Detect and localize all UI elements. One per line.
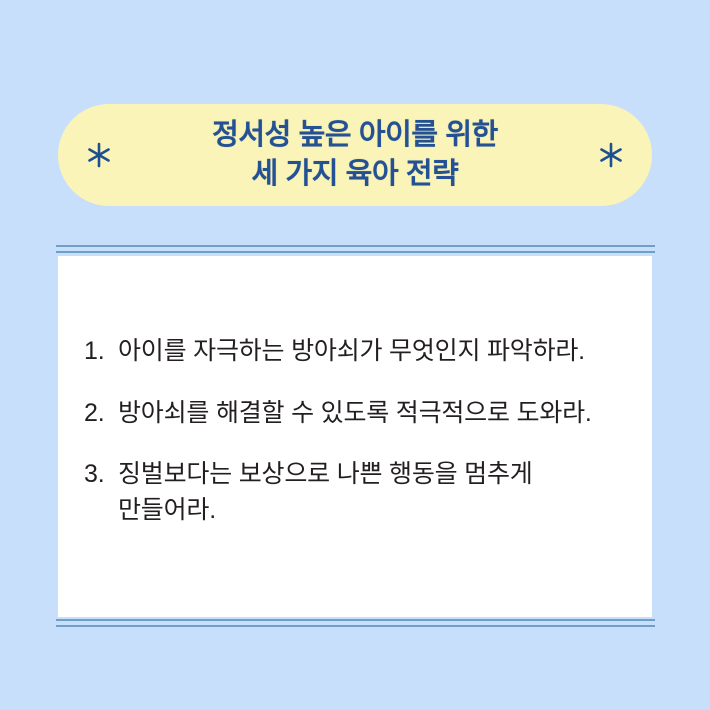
list-item-number: 3. [84,457,118,493]
header-banner: 정서성 높은 아이를 위한 세 가지 육아 전략 [58,104,652,206]
list-item: 2. 방아쇠를 해결할 수 있도록 적극적으로 도와라. [84,396,630,432]
asterisk-icon-right [596,140,626,170]
list-item: 1. 아이를 자극하는 방아쇠가 무엇인지 파악하라. [84,334,630,370]
asterisk-icon-left [84,140,114,170]
list-item-text: 방아쇠를 해결할 수 있도록 적극적으로 도와라. [118,396,630,432]
list-item-text: 징벌보다는 보상으로 나쁜 행동을 멈추게 만들어라. [118,457,630,528]
strategy-list: 1. 아이를 자극하는 방아쇠가 무엇인지 파악하라. 2. 방아쇠를 해결할 … [84,334,630,528]
infographic-card: 정서성 높은 아이를 위한 세 가지 육아 전략 1. 아이를 [0,0,710,710]
divider-line [56,625,655,627]
content-card: 1. 아이를 자극하는 방아쇠가 무엇인지 파악하라. 2. 방아쇠를 해결할 … [58,256,652,617]
list-item-text: 아이를 자극하는 방아쇠가 무엇인지 파악하라. [118,334,630,370]
divider-bottom [56,619,655,628]
list-item-number: 2. [84,396,118,432]
list-item-number: 1. [84,334,118,370]
divider-line [56,245,655,247]
list-item: 3. 징벌보다는 보상으로 나쁜 행동을 멈추게 만들어라. [84,457,630,528]
divider-line [56,251,655,253]
divider-top [56,245,655,254]
divider-line [56,619,655,621]
page-title: 정서성 높은 아이를 위한 세 가지 육아 전략 [114,116,596,195]
